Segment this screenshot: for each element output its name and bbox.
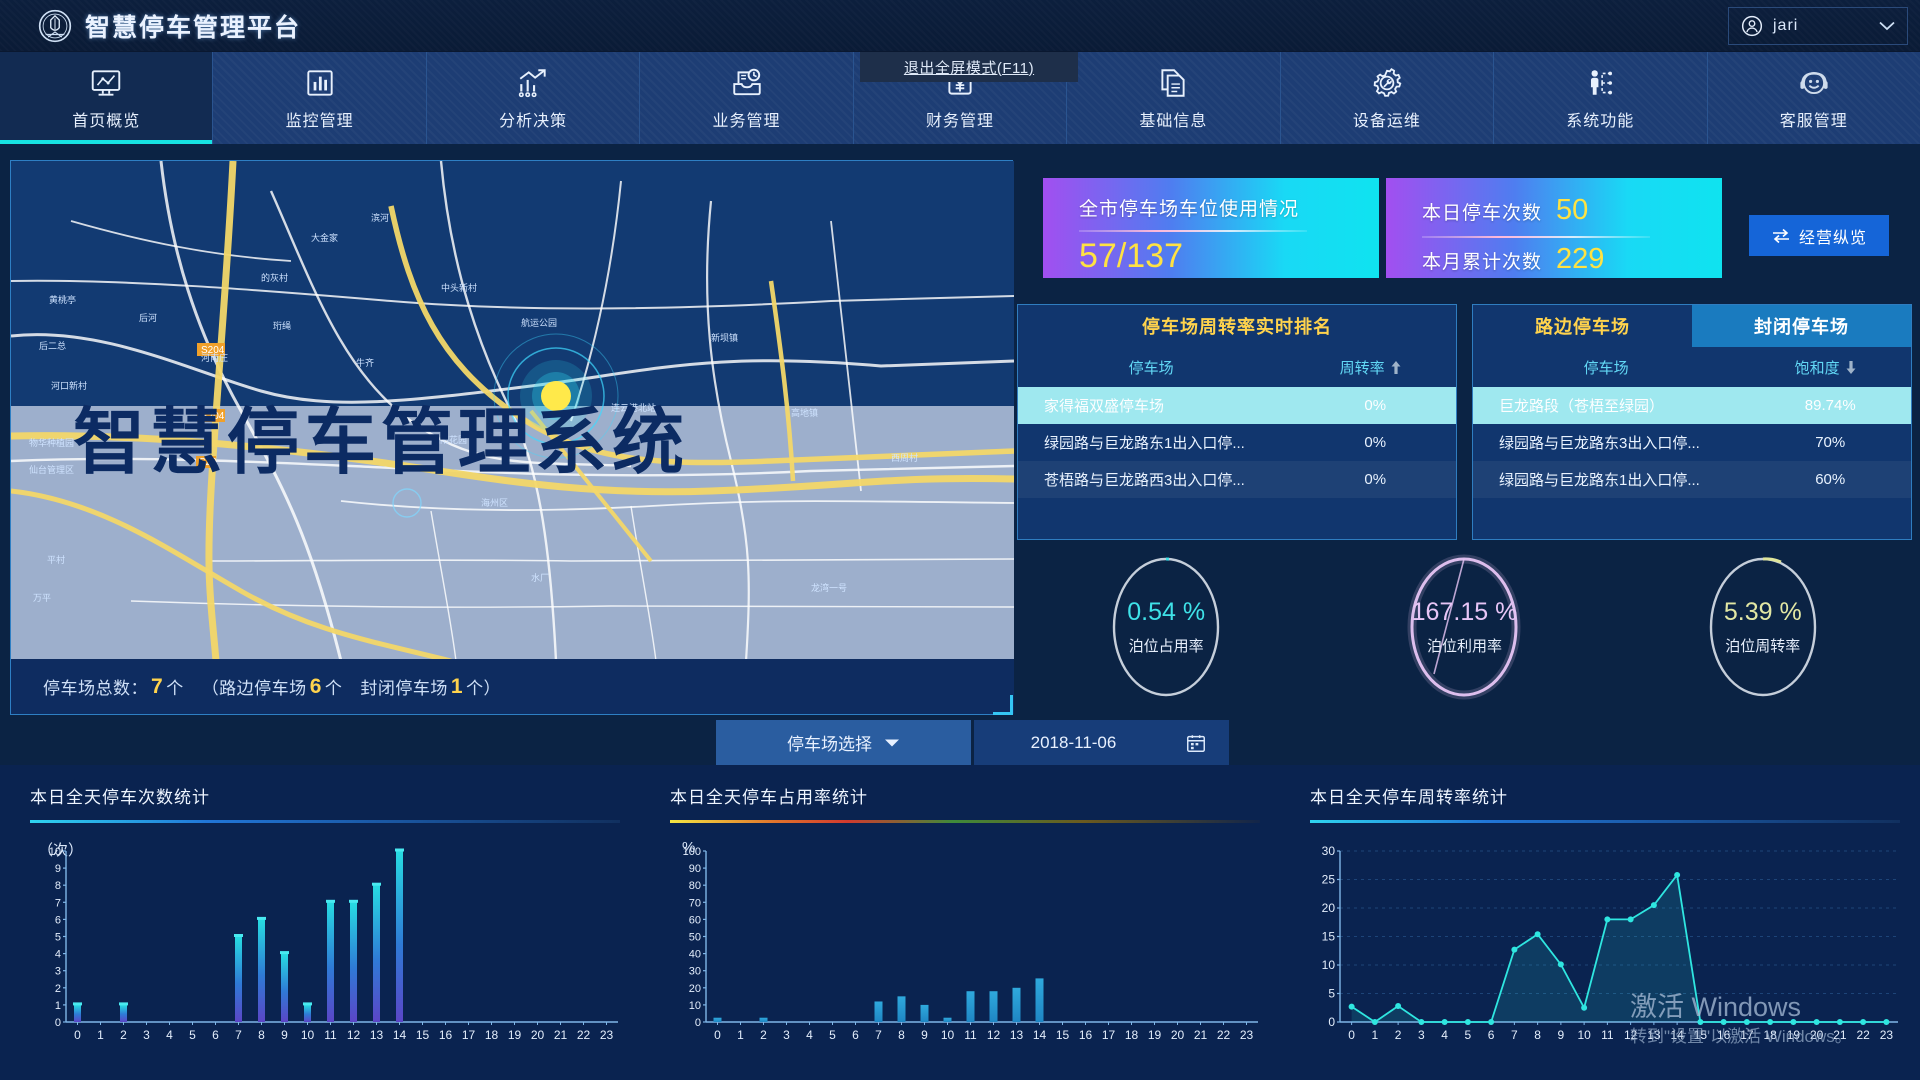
svg-text:后二总: 后二总: [39, 340, 66, 351]
svg-text:6: 6: [852, 1028, 859, 1042]
svg-text:14: 14: [393, 1028, 407, 1042]
map-roadside-prefix: （路边停车场: [184, 674, 307, 699]
svg-text:11: 11: [1601, 1028, 1614, 1042]
svg-text:7: 7: [55, 897, 61, 909]
svg-text:9: 9: [1558, 1028, 1565, 1042]
headset-smile-icon: [1797, 66, 1831, 100]
map-total-count: 7: [148, 675, 166, 699]
svg-text:0: 0: [55, 1017, 61, 1029]
svg-text:10: 10: [689, 1000, 701, 1012]
svg-text:后河: 后河: [139, 312, 157, 323]
svg-text:0: 0: [74, 1028, 81, 1042]
nav-item-home-overview[interactable]: 首页概览: [0, 52, 213, 144]
brand: 智慧停车管理平台: [38, 8, 301, 44]
gauge-ring-icon: [1106, 554, 1226, 700]
kpi-card-city-usage: 全市停车场车位使用情况 57/137: [1043, 178, 1379, 278]
svg-text:22: 22: [1217, 1028, 1231, 1042]
gauge-turnover-rate: 5.39 % 泊位周转率: [1703, 554, 1823, 700]
svg-text:航运公园: 航运公园: [521, 317, 557, 328]
svg-text:15: 15: [416, 1028, 430, 1042]
svg-text:7: 7: [875, 1028, 882, 1042]
svg-text:4: 4: [166, 1028, 173, 1042]
svg-text:牛齐: 牛齐: [356, 357, 374, 368]
svg-text:10: 10: [1322, 958, 1336, 972]
svg-text:4: 4: [55, 949, 61, 961]
bottom-charts-row: 本日全天停车次数统计 （次） 0123456789100123456789101…: [0, 765, 1920, 1080]
svg-text:12: 12: [347, 1028, 361, 1042]
svg-text:8: 8: [898, 1028, 905, 1042]
nav-label: 客服管理: [1780, 107, 1848, 131]
svg-text:15: 15: [1694, 1028, 1708, 1042]
svg-text:70: 70: [689, 897, 701, 909]
kpi-month-label: 本月累计次数: [1422, 247, 1542, 274]
map-watermark: 智慧停车管理系统: [73, 383, 689, 488]
svg-text:21: 21: [554, 1028, 568, 1042]
kpi-label: 全市停车场车位使用情况: [1079, 194, 1379, 221]
city-map-panel[interactable]: S204 S204 S20 黄桃亭后二总 河口新村物华种植园 仙台管理区平村 万…: [10, 160, 1013, 715]
svg-text:3: 3: [55, 966, 61, 978]
svg-text:8: 8: [1534, 1028, 1541, 1042]
sort-desc-icon[interactable]: [1846, 361, 1856, 374]
svg-text:17: 17: [1740, 1028, 1754, 1042]
svg-text:1: 1: [1372, 1028, 1379, 1042]
svg-text:30: 30: [689, 966, 701, 978]
cell-saturation: 60%: [1749, 471, 1911, 488]
cell-lot-name: 家得福双盛停车场: [1018, 395, 1294, 416]
map-canvas[interactable]: S204 S204 S20 黄桃亭后二总 河口新村物华种植园 仙台管理区平村 万…: [11, 161, 1014, 661]
nav-item-system-functions[interactable]: 系统功能: [1494, 52, 1707, 144]
page-title: 智慧停车管理平台: [85, 8, 301, 44]
cell-turnover: 0%: [1294, 471, 1456, 488]
user-menu[interactable]: jari: [1728, 7, 1908, 45]
nav-label: 业务管理: [713, 107, 781, 131]
table-row[interactable]: 家得福双盛停车场 0%: [1018, 387, 1456, 424]
map-closed-prefix: 封闭停车场: [342, 674, 448, 699]
chart-plot-area: 0123456789100123456789101112131415161718…: [26, 845, 626, 1050]
gauge-label: 泊位占用率: [1129, 635, 1204, 656]
svg-text:13: 13: [1647, 1028, 1661, 1042]
kpi-today-label: 本日停车次数: [1422, 198, 1542, 225]
chart-title-underline: [30, 820, 620, 823]
svg-text:16: 16: [1717, 1028, 1731, 1042]
nav-item-analysis-decision[interactable]: 分析决策: [427, 52, 640, 144]
nav-label: 基础信息: [1139, 107, 1207, 131]
chevron-down-icon[interactable]: [1879, 21, 1895, 31]
tab-roadside-lots[interactable]: 路边停车场: [1473, 305, 1692, 347]
svg-text:23: 23: [1240, 1028, 1254, 1042]
map-summary-bar: 停车场总数： 7 个 （路边停车场 6 个 封闭停车场 1 个）: [11, 659, 1014, 714]
svg-text:22: 22: [1856, 1028, 1870, 1042]
filter-bar: 停车场选择 2018-11-06: [716, 720, 1229, 765]
svg-text:9: 9: [281, 1028, 288, 1042]
nav-item-basic-info[interactable]: 基础信息: [1067, 52, 1280, 144]
chart-title-underline: [670, 820, 1260, 823]
svg-text:7: 7: [235, 1028, 242, 1042]
exit-fullscreen-tooltip: 退出全屏模式(F11): [860, 52, 1078, 82]
svg-text:19: 19: [1787, 1028, 1801, 1042]
table-row[interactable]: 绿园路与巨龙路东1出入口停... 60%: [1473, 461, 1911, 498]
parking-lot-select-label: 停车场选择: [787, 730, 872, 755]
svg-text:海州区: 海州区: [481, 497, 508, 508]
svg-text:10: 10: [301, 1028, 315, 1042]
column-header-turnover[interactable]: 周转率: [1284, 357, 1456, 378]
cell-lot-name: 绿园路与巨龙路东1出入口停...: [1018, 432, 1294, 453]
chart-parking-count: 本日全天停车次数统计 （次） 0123456789100123456789101…: [0, 765, 640, 1080]
map-summary-prefix: 停车场总数：: [43, 674, 148, 699]
svg-text:17: 17: [1102, 1028, 1116, 1042]
nav-item-customer-service[interactable]: 客服管理: [1708, 52, 1920, 144]
svg-text:5: 5: [1328, 987, 1335, 1001]
svg-text:20: 20: [689, 983, 701, 995]
table-row[interactable]: 巨龙路段（苍梧至绿园） 89.74%: [1473, 387, 1911, 424]
table-title: 停车场周转率实时排名: [1018, 305, 1456, 347]
svg-text:0: 0: [1348, 1028, 1355, 1042]
gauge-value: 5.39 %: [1724, 598, 1802, 627]
kpi-divider: [1079, 230, 1307, 232]
calendar-icon[interactable]: [1185, 732, 1207, 754]
svg-text:50: 50: [689, 932, 701, 944]
svg-text:18: 18: [485, 1028, 499, 1042]
saturation-table: 路边停车场 封闭停车场 停车场 饱和度 巨龙路段（苍梧至绿园） 89.74% 绿…: [1472, 304, 1912, 540]
business-overview-button[interactable]: 经营纵览: [1749, 215, 1889, 256]
svg-text:80: 80: [689, 880, 701, 892]
nav-label: 财务管理: [926, 107, 994, 131]
date-picker[interactable]: 2018-11-06: [974, 720, 1229, 765]
bar-chart-box-icon: [303, 66, 337, 100]
cell-lot-name: 绿园路与巨龙路东1出入口停...: [1473, 469, 1749, 490]
svg-text:0: 0: [1328, 1015, 1335, 1029]
svg-text:平村: 平村: [47, 554, 65, 565]
chart-title: 本日全天停车周转率统计: [1310, 783, 1898, 808]
kpi-month-value: 229: [1556, 243, 1604, 276]
turnover-ranking-table: 停车场周转率实时排名 停车场 周转率 家得福双盛停车场 0% 绿园路与巨龙路东1…: [1017, 304, 1457, 540]
nav-item-device-ops[interactable]: 设备运维: [1281, 52, 1494, 144]
parking-lot-select[interactable]: 停车场选择: [716, 720, 971, 765]
svg-text:23: 23: [600, 1028, 614, 1042]
svg-text:7: 7: [1511, 1028, 1518, 1042]
date-picker-value: 2018-11-06: [974, 733, 1173, 753]
svg-text:12: 12: [987, 1028, 1001, 1042]
org-person-icon: [1583, 66, 1617, 100]
map-closed-unit: 个）: [466, 674, 501, 699]
nav-label: 系统功能: [1566, 107, 1634, 131]
svg-text:中头新村: 中头新村: [441, 282, 477, 293]
svg-text:14: 14: [1033, 1028, 1047, 1042]
chevron-down-icon: [884, 738, 900, 748]
svg-text:13: 13: [370, 1028, 384, 1042]
svg-text:23: 23: [1880, 1028, 1894, 1042]
svg-text:大金家: 大金家: [311, 232, 338, 243]
svg-text:高地镇: 高地镇: [791, 407, 818, 418]
map-closed-count: 1: [448, 675, 466, 699]
exchange-arrows-icon: [1771, 228, 1791, 244]
nav-item-monitor-management[interactable]: 监控管理: [213, 52, 426, 144]
svg-text:5: 5: [829, 1028, 836, 1042]
svg-text:20: 20: [1322, 901, 1336, 915]
svg-text:14: 14: [1670, 1028, 1684, 1042]
chart-turnover-rate: 本日全天停车周转率统计 0510152025300123456789101112…: [1280, 765, 1920, 1080]
map-roadside-unit: 个: [325, 674, 343, 699]
svg-text:100: 100: [683, 846, 701, 858]
svg-text:3: 3: [1418, 1028, 1425, 1042]
analytics-trend-icon: [516, 66, 550, 100]
svg-text:21: 21: [1194, 1028, 1208, 1042]
svg-text:滨河: 滨河: [371, 212, 389, 223]
svg-text:3: 3: [783, 1028, 790, 1042]
table-row[interactable]: 绿园路与巨龙路东3出入口停... 70%: [1473, 424, 1911, 461]
gauge-label: 泊位利用率: [1427, 635, 1502, 656]
svg-text:20: 20: [1171, 1028, 1185, 1042]
svg-text:16: 16: [439, 1028, 453, 1042]
svg-text:6: 6: [1488, 1028, 1495, 1042]
gauge-value: 167.15 %: [1412, 598, 1518, 627]
kpi-card-parking-counts: 本日停车次数 50 本月累计次数 229: [1386, 178, 1722, 278]
svg-text:5: 5: [1465, 1028, 1472, 1042]
svg-text:9: 9: [921, 1028, 928, 1042]
svg-text:0: 0: [695, 1017, 701, 1029]
svg-text:2: 2: [120, 1028, 127, 1042]
chart-plot-area: 0510152025300123456789101112131415161718…: [1306, 845, 1906, 1050]
svg-text:物华种植园: 物华种植园: [29, 437, 74, 448]
monitor-chart-icon: [89, 66, 123, 100]
svg-text:10: 10: [49, 846, 61, 858]
column-header-lot: 停车场: [1473, 357, 1739, 378]
svg-text:1: 1: [737, 1028, 744, 1042]
svg-text:15: 15: [1056, 1028, 1070, 1042]
svg-text:25: 25: [1322, 873, 1336, 887]
svg-text:10: 10: [1577, 1028, 1591, 1042]
svg-text:6: 6: [55, 914, 61, 926]
gauge-utilization-rate: 167.15 % 泊位利用率: [1404, 554, 1524, 700]
cell-saturation: 70%: [1749, 434, 1911, 451]
svg-text:9: 9: [55, 863, 61, 875]
svg-text:90: 90: [689, 863, 701, 875]
chart-title-underline: [1310, 820, 1900, 823]
tab-closed-lots[interactable]: 封闭停车场: [1692, 305, 1911, 347]
nav-label: 分析决策: [499, 107, 567, 131]
svg-text:水厂: 水厂: [531, 572, 549, 583]
cell-lot-name: 巨龙路段（苍梧至绿园）: [1473, 395, 1749, 416]
svg-text:11: 11: [324, 1028, 337, 1042]
svg-text:万平: 万平: [33, 593, 51, 603]
sort-asc-icon[interactable]: [1391, 361, 1401, 374]
gauge-ring-icon: [1404, 554, 1524, 700]
svg-text:5: 5: [189, 1028, 196, 1042]
svg-text:仙台管理区: 仙台管理区: [29, 464, 74, 475]
map-roadside-count: 6: [307, 675, 325, 699]
chart-title: 本日全天停车次数统计: [30, 783, 618, 808]
gauge-occupancy-rate: 0.54 % 泊位占用率: [1106, 554, 1226, 700]
table-tabs: 路边停车场 封闭停车场: [1473, 305, 1911, 347]
svg-text:12: 12: [1624, 1028, 1638, 1042]
top-header-bar: 智慧停车管理平台 jari: [0, 0, 1920, 52]
police-emblem-icon: [38, 9, 72, 43]
svg-text:的灰村: 的灰村: [261, 272, 288, 283]
gear-wrench-icon: [1370, 66, 1404, 100]
svg-text:6: 6: [212, 1028, 219, 1042]
svg-text:新坝镇: 新坝镇: [711, 332, 738, 343]
table-row[interactable]: 绿园路与巨龙路东1出入口停... 0%: [1018, 424, 1456, 461]
svg-text:20: 20: [1810, 1028, 1824, 1042]
svg-text:11: 11: [964, 1028, 977, 1042]
svg-text:21: 21: [1833, 1028, 1847, 1042]
svg-text:22: 22: [577, 1028, 591, 1042]
svg-text:15: 15: [1322, 930, 1336, 944]
user-circle-icon: [1741, 15, 1763, 37]
nav-label: 设备运维: [1353, 107, 1421, 131]
svg-text:河南庄: 河南庄: [201, 352, 228, 363]
svg-text:13: 13: [1010, 1028, 1024, 1042]
cell-lot-name: 苍梧路与巨龙路西3出入口停...: [1018, 469, 1294, 490]
svg-text:2: 2: [760, 1028, 767, 1042]
svg-text:30: 30: [1322, 845, 1336, 858]
svg-text:1: 1: [55, 1000, 61, 1012]
kpi-value: 57/137: [1079, 237, 1379, 276]
table-row[interactable]: 苍梧路与巨龙路西3出入口停... 0%: [1018, 461, 1456, 498]
gauge-value: 0.54 %: [1127, 598, 1205, 627]
table-header-row: 停车场 饱和度: [1473, 347, 1911, 387]
nav-label: 监控管理: [286, 107, 354, 131]
rate-gauges: 0.54 % 泊位占用率 167.15 % 泊位利用率 5.39 % 泊位周转率: [1017, 552, 1912, 702]
cell-saturation: 89.74%: [1749, 397, 1911, 414]
business-overview-label: 经营纵览: [1799, 224, 1867, 248]
nav-item-business-management[interactable]: 业务管理: [640, 52, 853, 144]
svg-text:18: 18: [1763, 1028, 1777, 1042]
svg-text:4: 4: [1441, 1028, 1448, 1042]
gauge-ring-icon: [1703, 554, 1823, 700]
svg-text:19: 19: [508, 1028, 522, 1042]
cell-lot-name: 绿园路与巨龙路东3出入口停...: [1473, 432, 1749, 453]
svg-text:龙湾一号: 龙湾一号: [811, 582, 847, 593]
svg-text:0: 0: [714, 1028, 721, 1042]
chart-plot-area: 0102030405060708090100012345678910111213…: [666, 845, 1266, 1050]
svg-text:2: 2: [1395, 1028, 1402, 1042]
chart-title: 本日全天停车占用率统计: [670, 783, 1258, 808]
svg-text:8: 8: [55, 880, 61, 892]
svg-text:4: 4: [806, 1028, 813, 1042]
chart-occupancy-rate: 本日全天停车占用率统计 % 01020304050607080901000123…: [640, 765, 1280, 1080]
documents-icon: [1156, 66, 1190, 100]
user-name: jari: [1773, 17, 1869, 35]
svg-text:5: 5: [55, 932, 61, 944]
inbox-clock-icon: [730, 66, 764, 100]
panel-corner-decor: [993, 695, 1013, 715]
svg-text:珩绳: 珩绳: [273, 320, 291, 331]
svg-text:2: 2: [55, 983, 61, 995]
cell-turnover: 0%: [1294, 434, 1456, 451]
svg-text:60: 60: [689, 914, 701, 926]
svg-text:16: 16: [1079, 1028, 1093, 1042]
column-header-lot: 停车场: [1018, 357, 1284, 378]
svg-text:1: 1: [97, 1028, 104, 1042]
svg-text:8: 8: [258, 1028, 265, 1042]
svg-text:3: 3: [143, 1028, 150, 1042]
column-header-saturation[interactable]: 饱和度: [1739, 357, 1911, 378]
kpi-today-value: 50: [1556, 194, 1588, 227]
kpi-divider: [1422, 236, 1650, 238]
svg-text:19: 19: [1148, 1028, 1162, 1042]
table-header-row: 停车场 周转率: [1018, 347, 1456, 387]
svg-text:18: 18: [1125, 1028, 1139, 1042]
cell-turnover: 0%: [1294, 397, 1456, 414]
svg-text:40: 40: [689, 949, 701, 961]
gauge-label: 泊位周转率: [1725, 635, 1800, 656]
nav-label: 首页概览: [72, 107, 140, 131]
svg-text:17: 17: [462, 1028, 476, 1042]
svg-text:黄桃亭: 黄桃亭: [49, 294, 76, 305]
svg-text:10: 10: [941, 1028, 955, 1042]
map-total-unit: 个: [166, 674, 184, 699]
svg-text:20: 20: [531, 1028, 545, 1042]
svg-text:西周村: 西周村: [891, 452, 918, 463]
